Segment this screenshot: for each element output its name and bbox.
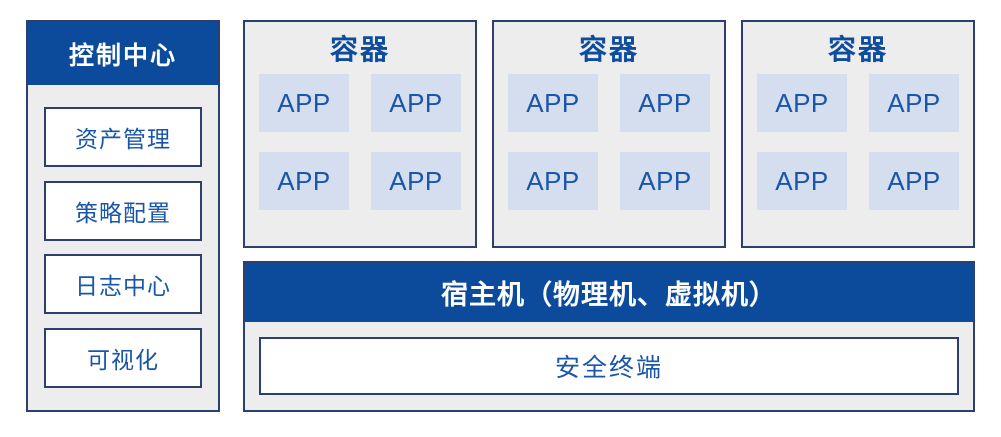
container-title: 容器 [579, 36, 639, 64]
app-box[interactable]: APP [508, 74, 598, 132]
app-grid: APP APP APP APP [508, 74, 710, 210]
control-item-visualization[interactable]: 可视化 [44, 328, 202, 388]
container-box-2: 容器 APP APP APP APP [492, 20, 726, 248]
app-box[interactable]: APP [869, 152, 959, 210]
app-grid: APP APP APP APP [259, 74, 461, 210]
app-box[interactable]: APP [508, 152, 598, 210]
control-item-log-center[interactable]: 日志中心 [44, 254, 202, 314]
app-box[interactable]: APP [259, 74, 349, 132]
control-item-policy-configuration[interactable]: 策略配置 [44, 181, 202, 241]
control-center-item-list: 资产管理 策略配置 日志中心 可视化 [28, 85, 218, 410]
containers-row: 容器 APP APP APP APP 容器 APP APP APP APP [243, 20, 975, 248]
container-title: 容器 [330, 36, 390, 64]
right-area: 容器 APP APP APP APP 容器 APP APP APP APP [243, 20, 975, 412]
control-item-asset-management[interactable]: 资产管理 [44, 107, 202, 167]
control-center-header: 控制中心 [28, 22, 218, 85]
architecture-diagram: 控制中心 资产管理 策略配置 日志中心 可视化 容器 APP APP APP A… [0, 0, 1001, 437]
security-terminal-box[interactable]: 安全终端 [259, 337, 959, 395]
app-box[interactable]: APP [371, 74, 461, 132]
app-box[interactable]: APP [620, 152, 710, 210]
app-box[interactable]: APP [371, 152, 461, 210]
app-box[interactable]: APP [259, 152, 349, 210]
app-grid: APP APP APP APP [757, 74, 959, 210]
container-box-1: 容器 APP APP APP APP [243, 20, 477, 248]
container-title: 容器 [828, 36, 888, 64]
app-box[interactable]: APP [757, 74, 847, 132]
control-center-panel: 控制中心 资产管理 策略配置 日志中心 可视化 [26, 20, 220, 412]
app-box[interactable]: APP [620, 74, 710, 132]
host-machine-block: 宿主机（物理机、虚拟机） 安全终端 [243, 261, 975, 412]
container-box-3: 容器 APP APP APP APP [741, 20, 975, 248]
host-machine-header: 宿主机（物理机、虚拟机） [245, 263, 973, 322]
app-box[interactable]: APP [869, 74, 959, 132]
host-machine-body: 安全终端 [245, 322, 973, 410]
app-box[interactable]: APP [757, 152, 847, 210]
